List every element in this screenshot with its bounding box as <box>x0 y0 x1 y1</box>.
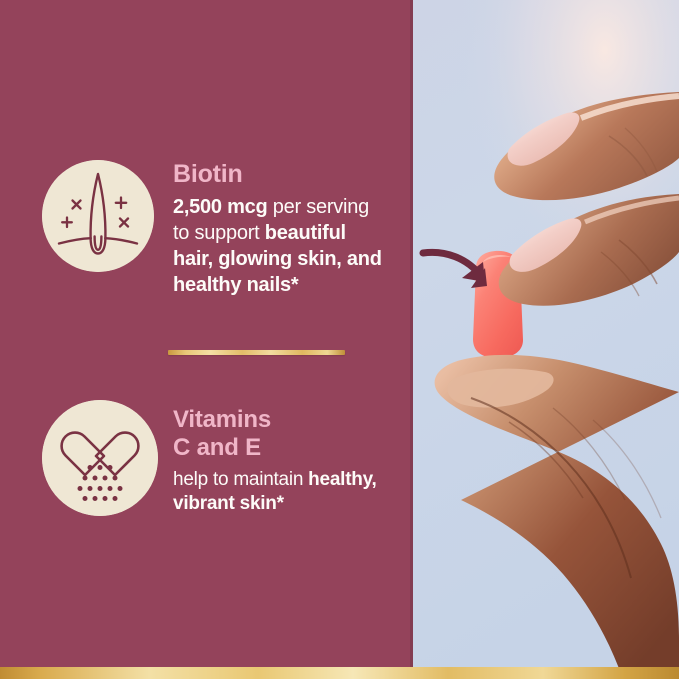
feature-biotin-title: Biotin <box>173 160 388 189</box>
feature-biotin-text: Biotin 2,500 mcg per serving to support … <box>173 160 388 298</box>
feature-vitamins-body: help to maintain healthy, vibrant skin* <box>173 468 413 517</box>
biotin-dose: 2,500 mcg <box>173 196 273 218</box>
product-photo <box>413 0 679 679</box>
feature-vitamins-text: Vitamins C and E help to maintain health… <box>173 400 413 517</box>
vitamins-body-regular: help to maintain <box>173 469 308 490</box>
capsule-granules-icon <box>42 400 158 516</box>
feature-vitamins-title: Vitamins C and E <box>173 406 413 462</box>
product-infographic: Biotin 2,500 mcg per serving to support … <box>0 0 679 679</box>
info-panel: Biotin 2,500 mcg per serving to support … <box>0 0 413 679</box>
hair-follicle-icon <box>42 160 154 272</box>
bottom-gold-bar <box>0 667 679 679</box>
feature-vitamins: Vitamins C and E help to maintain health… <box>42 400 413 517</box>
gold-divider <box>168 350 345 355</box>
feature-biotin: Biotin 2,500 mcg per serving to support … <box>42 160 388 298</box>
feature-biotin-body: 2,500 mcg per serving to support beautif… <box>173 194 388 298</box>
